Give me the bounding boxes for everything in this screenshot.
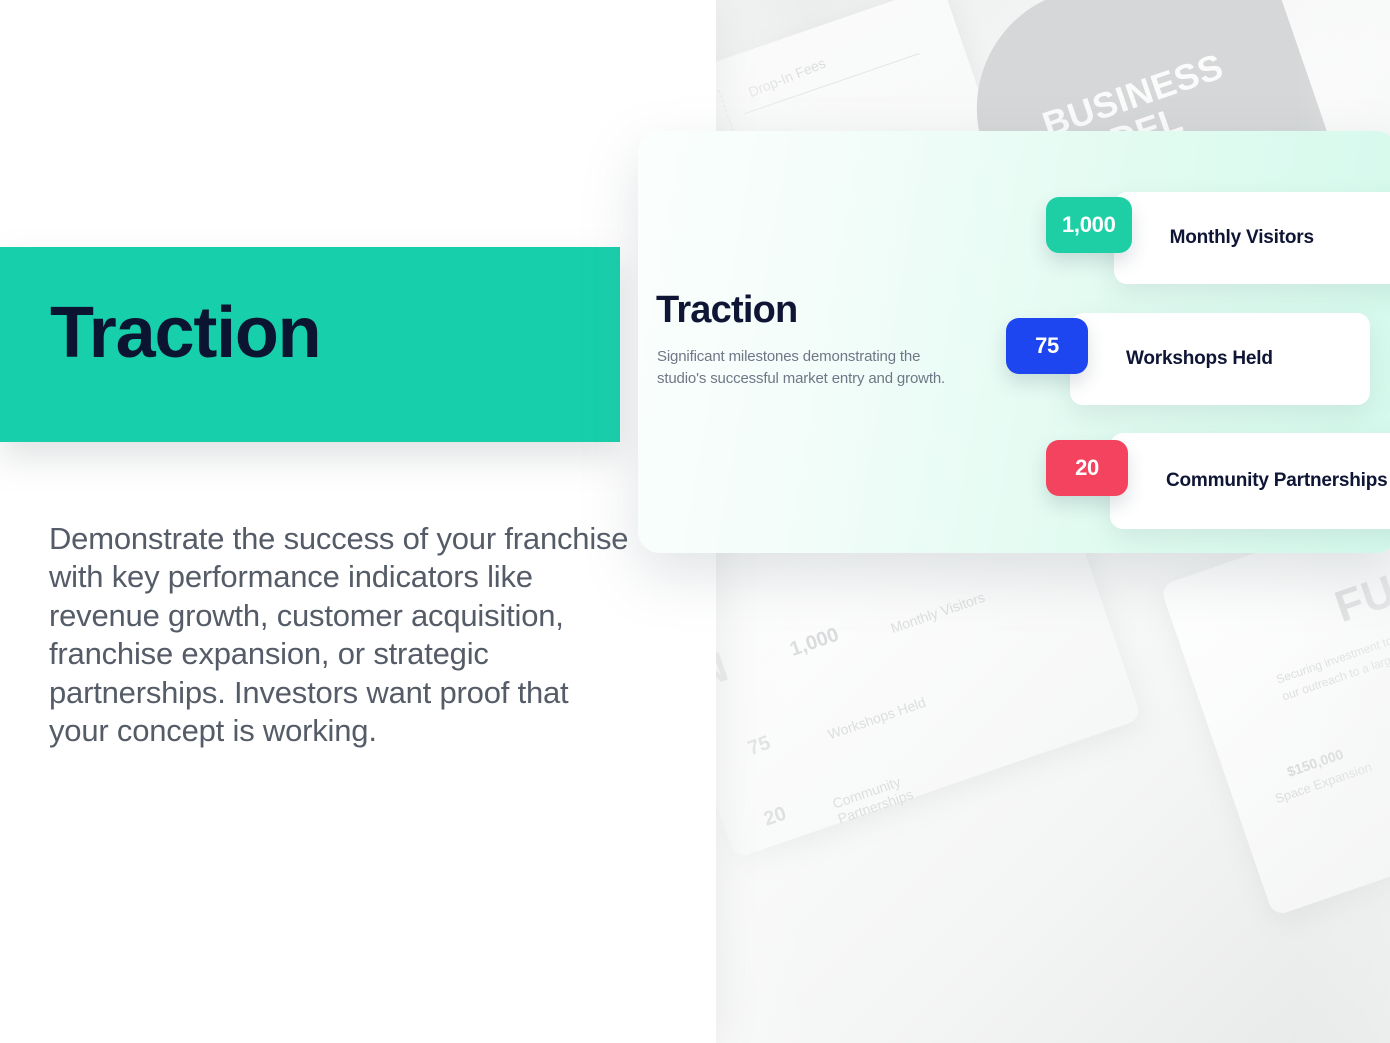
stat-panel[interactable]: Monthly Visitors — [1114, 192, 1390, 284]
stat-panel[interactable]: Workshops Held — [1070, 313, 1370, 405]
preview-card-title: Traction — [656, 291, 797, 329]
stat-row: 20 Community Partnerships — [1046, 407, 1390, 529]
section-description: Demonstrate the success of your franchis… — [49, 520, 629, 751]
stat-label: Monthly Visitors — [1170, 226, 1314, 250]
traction-preview-card[interactable]: Traction Significant milestones demonstr… — [638, 131, 1390, 553]
stat-row: 1,000 Monthly Visitors — [1046, 166, 1390, 284]
stat-badge-value: 20 — [1046, 440, 1128, 496]
page-title: Traction — [50, 297, 320, 369]
stat-row: 75 Workshops Held — [1006, 287, 1370, 405]
stat-badge-value: 1,000 — [1046, 197, 1132, 253]
stat-badge-value: 75 — [1006, 318, 1088, 374]
stat-panel[interactable]: Community Partnerships — [1110, 433, 1390, 529]
stat-label: Community Partnerships — [1166, 469, 1388, 493]
section-headline-banner: Traction — [0, 247, 620, 442]
preview-card-subtitle: Significant milestones demonstrating the… — [657, 346, 957, 390]
stat-label: Workshops Held — [1126, 347, 1273, 371]
